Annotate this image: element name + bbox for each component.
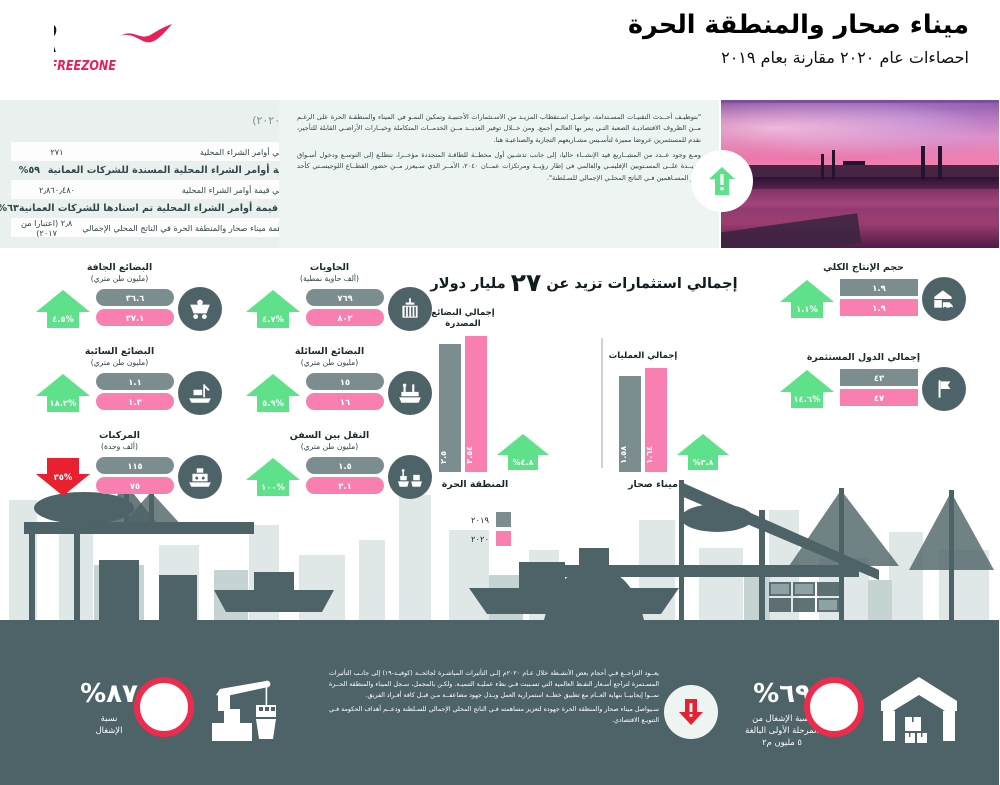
change-arrow-up: ١٤.٦% [779,368,837,410]
warehouse-icon [880,675,960,751]
bar-value: ١.٥٨ [620,446,642,464]
bar-2019: ١.٥ [307,457,385,474]
added-value-rows: إجمالي أوامر الشراء المحلية ٢٧١ نسبة أوا… [12,142,305,237]
stat-title: إجمالي الدول المستثمرة [762,352,967,363]
chart-group-freezone: إجمالي البضائع المصدرة ٢.٥ ٣.٥٤ ٤.٨% الم… [440,336,488,472]
change-arrow-up: ٤.٥% [35,288,93,330]
sohar-logo-mark: SOHAR PORT / FREEZONE [55,14,275,76]
table-row: نسبة أوامر الشراء المحلية المسندة للشركا… [12,161,305,180]
chart-title-suffix: مليار دولار [431,276,506,292]
bar-2020: ١٦ [307,393,385,410]
table-row: من قيمة أوامر الشراء المحلية تم اسنادها … [12,199,305,218]
bar-2019: ١١٥ [97,457,175,474]
stat-title: النقل بين السفن [228,430,433,441]
bar-2019: ٤٣ [841,369,919,386]
table-row: إجمالي قيمة أوامر الشراء المحلية ٢٫٨٦٠٫٤… [12,180,305,199]
group-caption: إجمالي العمليات [600,351,688,362]
page-subtitle: احصاءات عام ٢٠٢٠ مقارنة بعام ٢٠١٩ [410,48,970,67]
legend-label: ٢٠٢٠ [472,534,490,544]
bar-value: ١.٦٤ [646,446,668,464]
stat-ship-to-ship: النقل بين السفن (مليون طن متري) ١٠٠% ١.٥… [228,430,433,502]
stat-title: حجم الإنتاج الكلي [762,262,967,273]
bottom-paragraph-1: يعــود التراجــع فـي أحجام بعض الأنشـطة … [330,669,660,701]
stat-change: ١٨.٢% [35,398,93,408]
bar-2020: ١.٣ [97,393,175,410]
legend-item-2020: ٢٠٢٠ [472,531,512,546]
svg-text:PORT / FREEZONE: PORT / FREEZONE [55,59,117,74]
stat-title: البضائع السائلة [228,346,433,357]
change-arrow-up: ١٠٠% [245,456,303,498]
row-value: ٢٧١ [12,147,104,157]
bar-2020: ٧٥ [97,477,175,494]
stat-unit: (ألف حاوية نمطية) [228,274,433,283]
page-header: SOHAR PORT / FREEZONE ميناء صحار والمنطق… [0,0,1000,98]
roro-vessel-icon [179,455,223,499]
row-label: إجمالي أوامر الشراء المحلية [104,147,305,157]
chart-change: ٣.٨% [676,458,732,467]
bottom-paragraph-2: سـيواصل ميناء صحار والمنطقة الحرة جهوده … [330,705,660,727]
port-sunset-photo [722,100,1000,248]
legend-swatch [497,512,512,527]
chart-group-sohar-port: إجمالي العمليات ١.٥٨ ١.٦٤ ٣.٨% ميناء صحا… [620,368,668,472]
chart-change: ٤.٨% [496,458,552,467]
occupancy-ring-left [135,677,195,737]
bar-2019: ٢.٥ [440,344,462,472]
row-label: نسبة أوامر الشراء المحلية المسندة للشركا… [49,165,305,176]
up-arrow-badge [692,150,754,212]
stat-change: ٤.٥% [35,314,93,324]
change-arrow-up: ٣.٨% [676,432,732,472]
legend-label: ٢٠١٩ [472,515,490,525]
group-caption: إجمالي البضائع المصدرة [420,308,508,330]
bottom-band: ٨٧% نسبة الإشغال يعــود التراجــع فـي أح… [0,655,1000,785]
stat-title: البضائع السائبة [18,346,223,357]
bar-2019: ١٥ [307,373,385,390]
stat-vehicles: المركبات (ألف وحدة) ٣٥% ١١٥ ٧٥ [18,430,223,502]
row-value: ٢٫٨ (اعتبارا من ٢٠١٧) [12,218,83,238]
bar-2020: ٤٧ [841,389,919,406]
stat-change: ١.١% [779,304,837,314]
sohar-logo[interactable]: SOHAR PORT / FREEZONE [55,14,275,74]
change-arrow-down: ٣٥% [35,456,93,498]
change-arrow-up: ١.١% [779,278,837,320]
infographic-page: SOHAR PORT / FREEZONE ميناء صحار والمنطق… [0,0,1000,785]
flag-icon [923,367,967,411]
stat-title: الحاويات [228,262,433,273]
stat-change: ٣٥% [35,472,93,482]
row-label: مساهمة ميناء صحار والمنطقة الحرة في النا… [83,223,305,233]
investments-bar-chart: إجمالي البضائع المصدرة ٢.٥ ٣.٥٤ ٤.٨% الم… [420,300,750,500]
chart-title: إجمالي استثمارات تزيد عن ٢٧ مليار دولار [420,268,750,297]
bar-2020: ٣.١ [307,477,385,494]
stat-change: ١٤.٦% [779,394,837,404]
stat-change: ٥.٩% [245,398,303,408]
warehouse-truck-icon [923,277,967,321]
bar-2020: ٣٧.١ [97,309,175,326]
arrow-down-icon [679,698,705,726]
title-block: ميناء صحار والمنطقة الحرة احصاءات عام ٢٠… [410,10,970,67]
stat-unit: (مليون طن متري) [18,274,223,283]
row-label: إجمالي قيمة أوامر الشراء المحلية [104,185,305,195]
bar-2020: ٨٠٢ [307,309,385,326]
stat-change: ٤.٧% [245,314,303,324]
intro-paragraph-1: "بتوظيـف أحــدث التقنيـات المسـتدامة، نو… [298,112,702,146]
bar-2019: ٧٦٩ [307,289,385,306]
row-value: ٦٣% [0,203,20,214]
bar-2020: ١.٦٤ [646,368,668,472]
stat-title: المركبات [18,430,223,441]
stat-liquid-goods: البضائع السائلة (مليون طن متري) ٥.٩% ١٥ … [228,346,433,418]
bar-2019: ١.١ [97,373,175,390]
change-arrow-up: ١٨.٢% [35,372,93,414]
bar-2020: ٣.٥٤ [466,336,488,472]
chart-xlabel: ميناء صحار [629,479,679,490]
intro-paragraph-2: ومـع وجود عــدد من المشــاريع قيد الإنشـ… [298,150,702,184]
stat-unit: (مليون طن متري) [228,358,433,367]
change-arrow-up: ٤.٨% [496,432,552,472]
legend-swatch [497,531,512,546]
row-value: ٥٩% [12,165,49,176]
stat-change: ١٠٠% [245,482,303,492]
change-arrow-up: ٤.٧% [245,288,303,330]
bar-value: ٢.٥ [440,451,462,464]
bar-2020: ١.٩ [841,299,919,316]
dry-bulk-icon [179,287,223,331]
bar-value: ٣.٥٤ [466,446,488,464]
bar-2019: ١.٥٨ [620,376,642,472]
svg-text:SOHAR: SOHAR [55,16,61,62]
stat-title: البضائع الجافة [18,262,223,273]
intro-text-panel: "بتوظيـف أحــدث التقنيـات المسـتدامة، نو… [280,100,720,248]
stat-unit: (مليون طن متري) [18,358,223,367]
chart-legend: ٢٠١٩ ٢٠٢٠ [472,512,512,550]
stat-total-output: حجم الإنتاج الكلي ١.١% ١.٩ ١.٩ [762,262,967,334]
stat-dry-bulk: البضائع الجافة (مليون طن متري) ٤.٥% ٣٦.٦… [18,262,223,334]
page-title: ميناء صحار والمنطقة الحرة [410,10,970,42]
chart-title-figure: ٢٧ [512,268,543,297]
stat-containers: الحاويات (ألف حاوية نمطية) ٤.٧% ٧٦٩ ٨٠٢ [228,262,433,334]
row-label: من قيمة أوامر الشراء المحلية تم اسنادها … [20,203,305,214]
bar-2019: ٣٦.٦ [97,289,175,306]
stat-investing-countries: إجمالي الدول المستثمرة ١٤.٦% ٤٣ ٤٧ [762,352,967,424]
bottom-text: يعــود التراجــع فـي أحجام بعض الأنشـطة … [330,669,660,727]
stat-unit: (ألف وحدة) [18,442,223,451]
stat-unit: (مليون طن متري) [228,442,433,451]
decline-indicator [665,685,719,739]
arrow-up-icon [709,166,737,196]
row-value: ٢٫٨٦٠٫٤٨٠ [12,185,104,195]
chart-xlabel: المنطقة الحرة [443,479,510,490]
legend-item-2019: ٢٠١٩ [472,512,512,527]
port-crane-ship-icon [179,371,223,415]
chart-title-prefix: إجمالي استثمارات تزيد عن [547,276,738,292]
occupancy-ring-right [805,677,865,737]
change-arrow-up: ٥.٩% [245,372,303,414]
stat-liquid-bulk: البضائع السائبة (مليون طن متري) ١٨.٢% ١.… [18,346,223,418]
bar-2019: ١.٩ [841,279,919,296]
table-row: مساهمة ميناء صحار والمنطقة الحرة في النا… [12,218,305,237]
table-row: إجمالي أوامر الشراء المحلية ٢٧١ [12,142,305,161]
crane-loading-icon [205,675,295,757]
